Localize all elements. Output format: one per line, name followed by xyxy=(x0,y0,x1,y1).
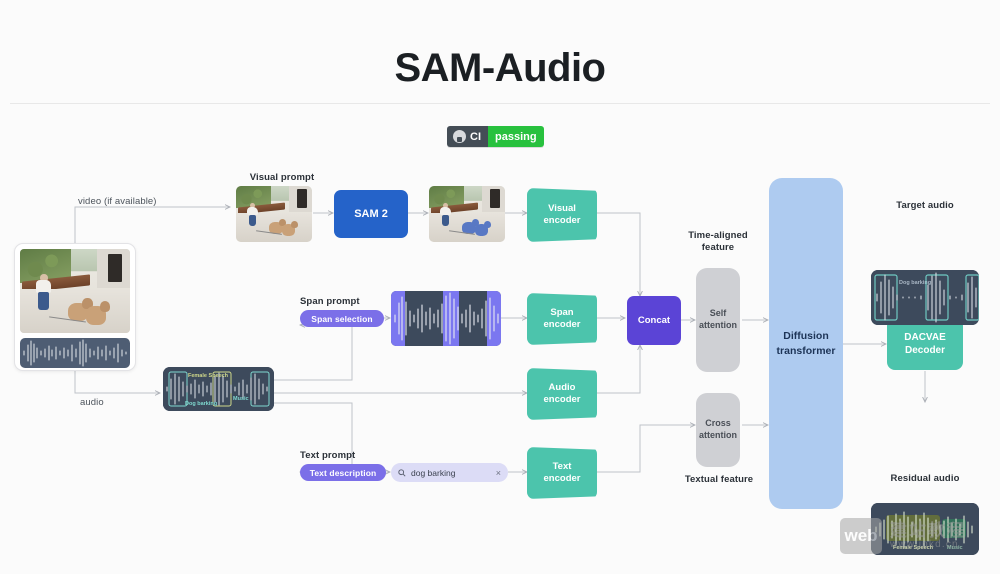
text-query-input[interactable]: dog barking × xyxy=(391,463,508,482)
edge-label-audio: audio xyxy=(80,397,140,409)
time-aligned-line1: Time-aligned xyxy=(673,230,763,242)
text-description-pill[interactable]: Text description xyxy=(300,464,386,481)
visual-encoder-line2: encoder xyxy=(544,215,581,227)
time-aligned-line2: feature xyxy=(673,242,763,254)
text-encoder-line2: encoder xyxy=(544,473,581,485)
span-waveform-panel[interactable] xyxy=(391,291,501,346)
target-audio-panel[interactable]: Dog barking xyxy=(871,270,979,325)
span-encoder-line1: Span xyxy=(550,307,573,319)
watermark-url: www.ipkd.cn xyxy=(890,539,966,550)
decoder-line1: DACVAE xyxy=(904,331,945,345)
span-encoder-block[interactable]: Span encoder xyxy=(527,293,597,345)
text-encoder-block[interactable]: Text encoder xyxy=(527,447,597,499)
diffusion-line1: Diffusion xyxy=(783,329,829,343)
cross-attention-line1: Cross xyxy=(705,418,731,430)
self-attention-line2: attention xyxy=(699,320,737,332)
search-icon xyxy=(398,469,406,477)
textual-feature-label: Textual feature xyxy=(673,474,765,486)
visual-prompt-label: Visual prompt xyxy=(232,172,332,184)
text-query-value: dog barking xyxy=(411,468,455,478)
watermark-logo: web xyxy=(840,518,882,554)
visual-prompt-thumbnail[interactable] xyxy=(236,186,312,242)
visual-encoder-line1: Visual xyxy=(548,203,576,215)
input-audio-panel[interactable]: Female Speech Dog barking Music xyxy=(163,367,274,411)
diffusion-line2: transformer xyxy=(777,344,836,358)
watermark: web 建站教程 www.ipkd.cn xyxy=(840,518,966,554)
sam2-block[interactable]: SAM 2 xyxy=(334,190,408,238)
target-segment-label: Dog barking xyxy=(899,280,931,286)
input-segment-label-2: Dog barking xyxy=(185,401,217,407)
dacvae-decoder-block[interactable]: DACVAE Decoder xyxy=(887,318,963,370)
span-prompt-label: Span prompt xyxy=(300,296,390,308)
text-encoder-line1: Text xyxy=(553,461,572,473)
text-prompt-label: Text prompt xyxy=(300,450,390,462)
span-selection-pill[interactable]: Span selection xyxy=(300,310,384,327)
clear-icon[interactable]: × xyxy=(496,468,501,478)
residual-audio-label: Residual audio xyxy=(875,473,975,485)
target-audio-label: Target audio xyxy=(875,200,975,212)
cross-attention-block[interactable]: Cross attention xyxy=(696,393,740,467)
diffusion-transformer-block[interactable]: Diffusion transformer xyxy=(769,178,843,509)
input-audio-waveform xyxy=(20,338,130,368)
audio-encoder-line1: Audio xyxy=(549,382,576,394)
visual-encoder-block[interactable]: Visual encoder xyxy=(527,188,597,242)
time-aligned-feature-label: Time-aligned feature xyxy=(673,230,763,254)
audio-encoder-line2: encoder xyxy=(544,394,581,406)
segmentation-mask-thumbnail[interactable] xyxy=(429,186,505,242)
input-segment-label-1: Female Speech xyxy=(188,373,228,379)
connector-lines xyxy=(0,0,1000,574)
audio-encoder-block[interactable]: Audio encoder xyxy=(527,368,597,420)
self-attention-line1: Self xyxy=(710,308,727,320)
edge-label-video: video (if available) xyxy=(78,196,208,208)
self-attention-block[interactable]: Self attention xyxy=(696,268,740,372)
architecture-diagram: video (if available) audio xyxy=(0,0,1000,574)
span-encoder-line2: encoder xyxy=(544,319,581,331)
decoder-line2: Decoder xyxy=(905,344,945,358)
input-video-thumbnail xyxy=(20,249,130,333)
concat-block[interactable]: Concat xyxy=(627,296,681,345)
watermark-cn-text: 建站教程 xyxy=(890,522,966,540)
input-segment-label-3: Music xyxy=(233,396,249,402)
cross-attention-line2: attention xyxy=(699,430,737,442)
input-media-card[interactable] xyxy=(14,243,136,371)
